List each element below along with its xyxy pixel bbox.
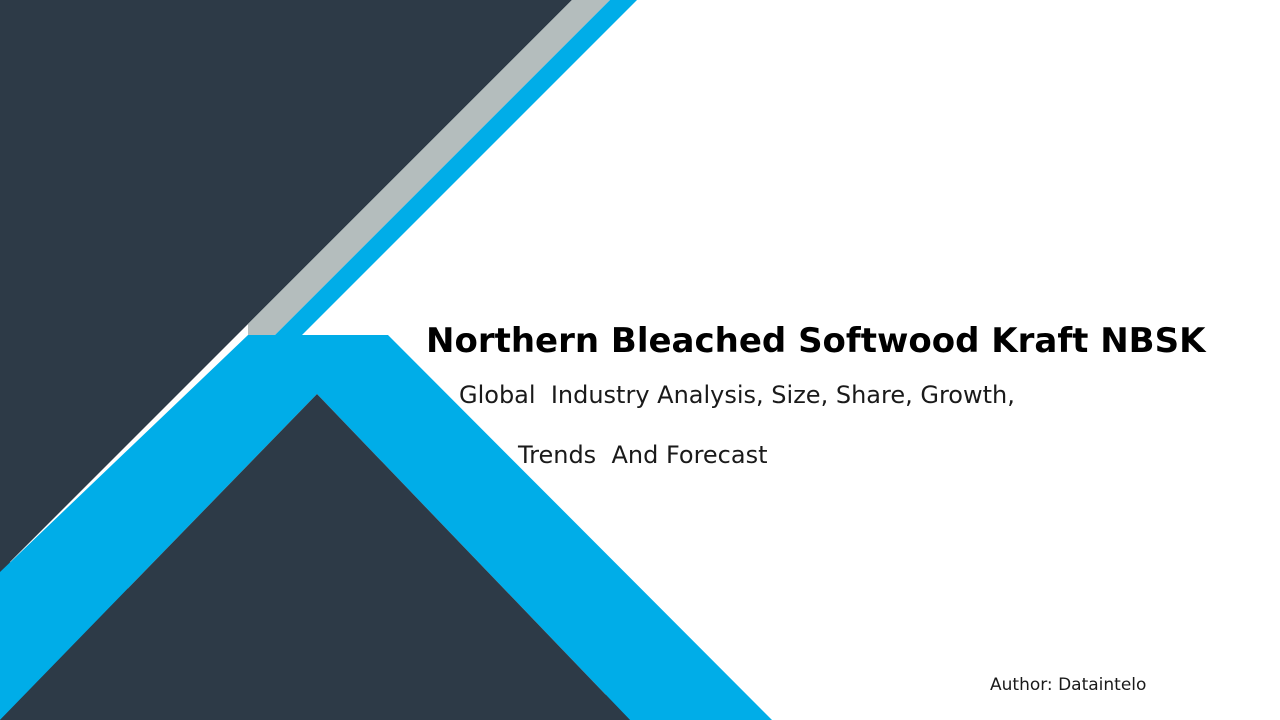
subtitle-line-1: Global Industry Analysis, Size, Share, G… <box>459 378 1015 412</box>
title-slide: Northern Bleached Softwood Kraft NBSK Gl… <box>0 0 1280 720</box>
page-title: Northern Bleached Softwood Kraft NBSK <box>426 317 1280 365</box>
author-credit: Author: Dataintelo <box>990 673 1146 697</box>
text-layer: Northern Bleached Softwood Kraft NBSK Gl… <box>0 0 1280 720</box>
subtitle-line-2: Trends And Forecast <box>518 438 768 472</box>
